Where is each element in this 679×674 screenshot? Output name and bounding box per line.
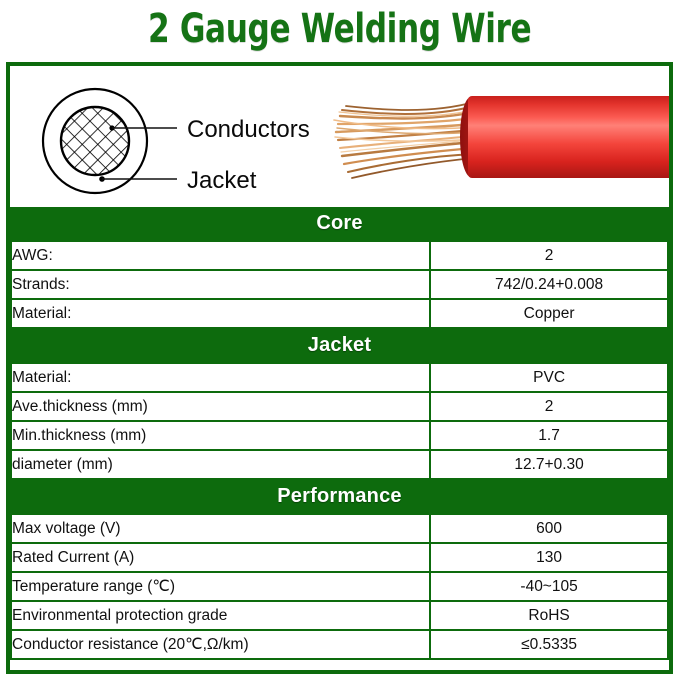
table-row: Strands: 742/0.24+0.008 [11,270,668,299]
table-row: Material: PVC [11,363,668,392]
section-header-row: Jacket [11,328,668,363]
section-header-core: Core [11,207,668,241]
row-value: 600 [430,514,668,543]
row-label: Strands: [11,270,430,299]
page-title: 2 Gauge Welding Wire [148,8,531,50]
section-header-performance: Performance [11,479,668,514]
cross-section-diagram: Conductors Jacket [20,66,340,207]
spec-table-body: Core AWG: 2 Strands: 742/0.24+0.008 Mate… [11,207,668,659]
table-row: AWG: 2 [11,241,668,270]
table-row: Conductor resistance (20℃,Ω/km) ≤0.5335 [11,630,668,659]
row-label: Environmental protection grade [11,601,430,630]
table-row: Environmental protection grade RoHS [11,601,668,630]
conductors-label: Conductors [187,116,310,143]
cable-print-text: 2 Gauge [668,152,669,183]
row-label: Rated Current (A) [11,543,430,572]
spec-frame: Conductors Jacket [6,62,673,674]
table-row: Rated Current (A) 130 [11,543,668,572]
specification-table: Core AWG: 2 Strands: 742/0.24+0.008 Mate… [10,207,669,660]
row-label: Conductor resistance (20℃,Ω/km) [11,630,430,659]
table-row: Max voltage (V) 600 [11,514,668,543]
row-value: 742/0.24+0.008 [430,270,668,299]
table-row: Min.thickness (mm) 1.7 [11,421,668,450]
row-value: -40~105 [430,572,668,601]
jacket-label: Jacket [187,167,257,194]
row-label: diameter (mm) [11,450,430,479]
row-value: 12.7+0.30 [430,450,668,479]
row-label: Ave.thickness (mm) [11,392,430,421]
section-header-jacket: Jacket [11,328,668,363]
cable-photo: 2 Gauge [310,66,669,207]
row-value: PVC [430,363,668,392]
table-row: Temperature range (℃) -40~105 [11,572,668,601]
table-row: diameter (mm) 12.7+0.30 [11,450,668,479]
row-label: Min.thickness (mm) [11,421,430,450]
row-value: ≤0.5335 [430,630,668,659]
row-label: AWG: [11,241,430,270]
row-label: Temperature range (℃) [11,572,430,601]
row-value: Copper [430,299,668,328]
section-header-row: Performance [11,479,668,514]
row-value: 2 [430,392,668,421]
page-title-bar: 2 Gauge Welding Wire [0,0,679,58]
row-value: RoHS [430,601,668,630]
table-row: Ave.thickness (mm) 2 [11,392,668,421]
row-value: 1.7 [430,421,668,450]
spec-sheet-page: 2 Gauge Welding Wire [0,0,679,674]
row-value: 2 [430,241,668,270]
cable-jacket-body: 2 Gauge [468,96,669,178]
table-row: Material: Copper [11,299,668,328]
illustration-band: Conductors Jacket [10,66,669,207]
row-label: Material: [11,299,430,328]
row-label: Material: [11,363,430,392]
row-label: Max voltage (V) [11,514,430,543]
section-header-row: Core [11,207,668,241]
row-value: 130 [430,543,668,572]
